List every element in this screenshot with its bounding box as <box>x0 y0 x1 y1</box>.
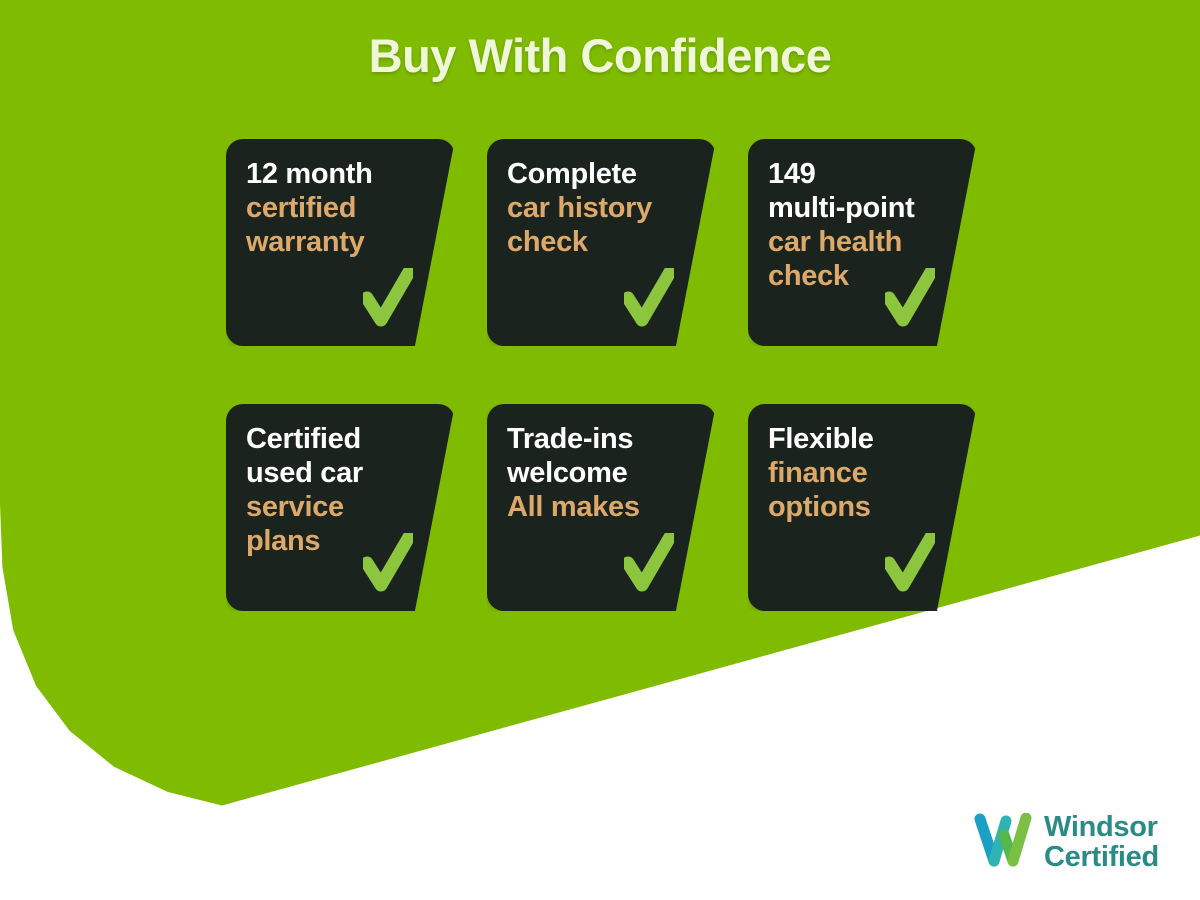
feature-card-row-1: 12 month certified warranty Complete car… <box>226 139 978 346</box>
feature-card-grid: 12 month certified warranty Complete car… <box>226 139 978 611</box>
page-title: Buy With Confidence <box>0 28 1200 83</box>
feature-card-certified-warranty[interactable]: 12 month certified warranty <box>226 139 455 346</box>
feature-card-finance-options[interactable]: Flexible finance options <box>748 404 977 611</box>
card-line: welcome <box>507 456 686 490</box>
check-tick-icon <box>363 268 413 330</box>
windsor-w-mark-icon <box>972 813 1034 871</box>
check-tick-icon <box>363 533 413 595</box>
card-line: car health <box>768 225 947 259</box>
card-line: certified <box>246 191 425 225</box>
feature-card-row-2: Certified used car service plans Trade-i… <box>226 404 978 611</box>
feature-card-trade-ins[interactable]: Trade-ins welcome All makes <box>487 404 716 611</box>
logo-wordmark: Windsor Certified <box>1044 812 1159 872</box>
feature-card-multi-point-health-check[interactable]: 149 multi-point car health check <box>748 139 977 346</box>
card-line: car history <box>507 191 686 225</box>
check-tick-icon <box>624 533 674 595</box>
card-line: warranty <box>246 225 425 259</box>
card-line: All makes <box>507 490 686 524</box>
card-line: 12 month <box>246 157 425 191</box>
card-line: multi-point <box>768 191 947 225</box>
card-line: Certified <box>246 422 425 456</box>
card-line: Trade-ins <box>507 422 686 456</box>
poster-canvas: Buy With Confidence 12 month certified w… <box>0 0 1200 900</box>
card-line: Complete <box>507 157 686 191</box>
card-text-block: 12 month certified warranty <box>246 157 425 259</box>
card-text-block: Trade-ins welcome All makes <box>507 422 686 524</box>
feature-card-car-history-check[interactable]: Complete car history check <box>487 139 716 346</box>
card-line: service <box>246 490 425 524</box>
card-line: Flexible <box>768 422 947 456</box>
card-line: options <box>768 490 947 524</box>
card-line: 149 <box>768 157 947 191</box>
check-tick-icon <box>624 268 674 330</box>
card-text-block: Complete car history check <box>507 157 686 259</box>
logo-line-1: Windsor <box>1044 812 1159 842</box>
check-tick-icon <box>885 268 935 330</box>
windsor-certified-logo[interactable]: Windsor Certified <box>972 812 1159 872</box>
logo-line-2: Certified <box>1044 842 1159 872</box>
check-tick-icon <box>885 533 935 595</box>
card-line: finance <box>768 456 947 490</box>
feature-card-service-plans[interactable]: Certified used car service plans <box>226 404 455 611</box>
card-line: used car <box>246 456 425 490</box>
card-line: check <box>507 225 686 259</box>
card-text-block: Flexible finance options <box>768 422 947 524</box>
